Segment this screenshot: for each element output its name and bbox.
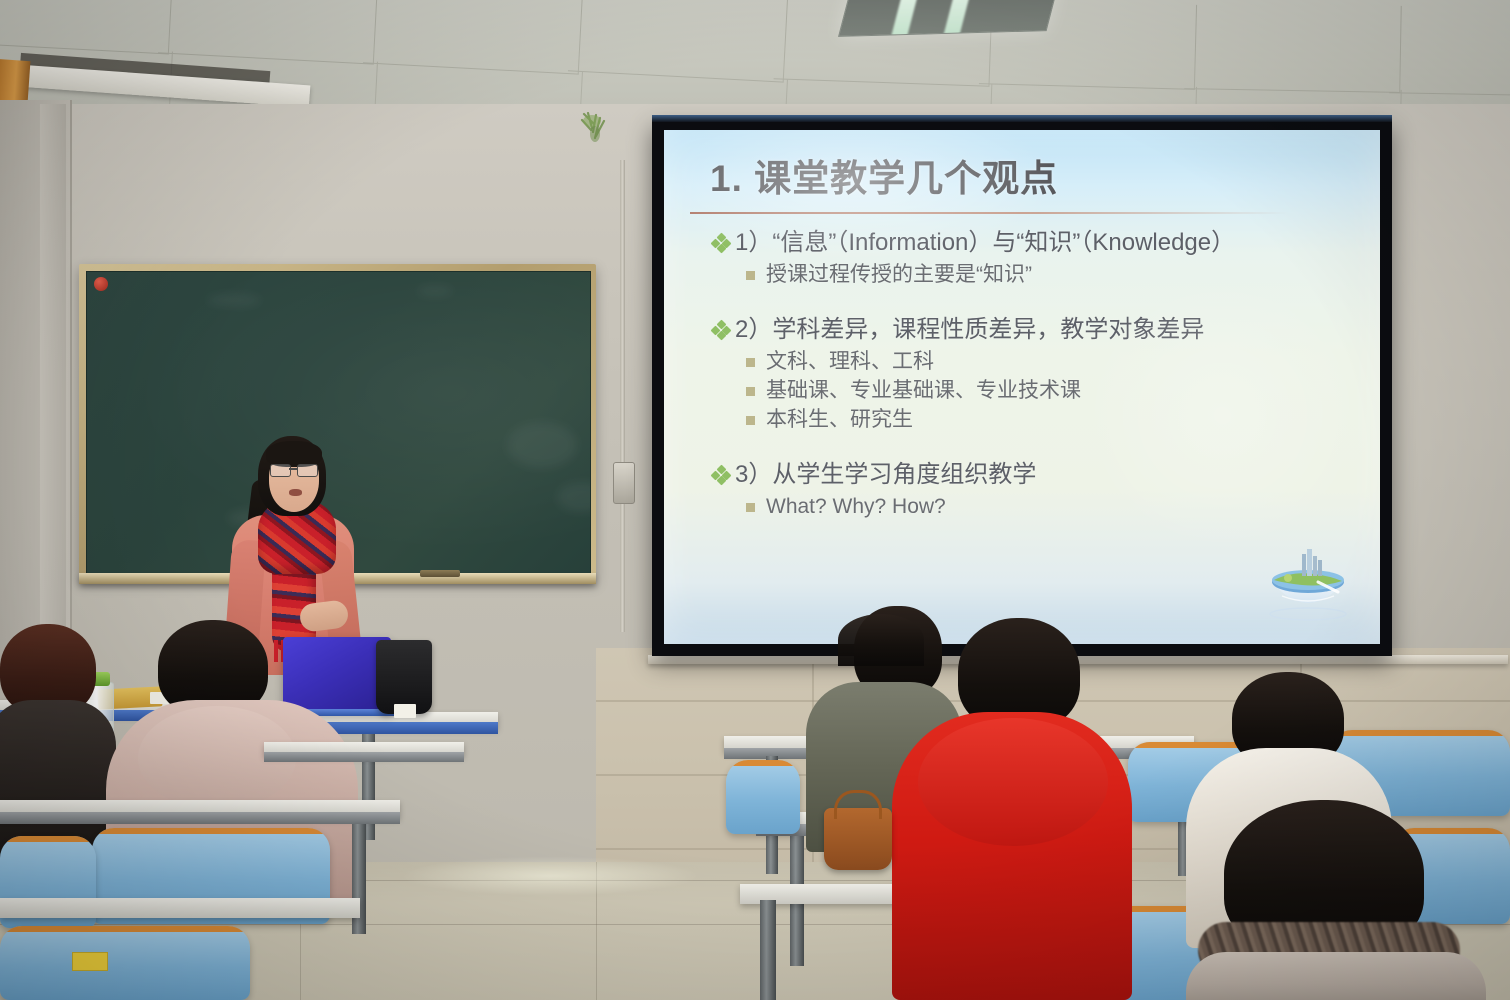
wall-conduit — [620, 160, 625, 632]
slide-subbullet-text: 本科生、研究生 — [766, 406, 913, 434]
slide-subbullet-text: 授课过程传授的主要是“知识” — [766, 261, 1032, 289]
student-hood — [918, 718, 1108, 846]
square-bullet-icon — [746, 271, 755, 280]
slide-subbullet: 文科、理科、工科 — [746, 348, 1362, 376]
slide-subbullet-text: 基础课、专业基础课、专业技术课 — [766, 377, 1081, 405]
slide-bullet-3: 3）从学生学习角度组织教学 — [712, 460, 1362, 491]
square-bullet-icon — [746, 387, 755, 396]
blue-laptop[interactable] — [283, 637, 391, 713]
student-jacket — [1186, 952, 1486, 1000]
presenter-mouth — [289, 489, 302, 496]
chalk-eraser — [420, 570, 460, 577]
plant-decoration-icon — [578, 112, 620, 156]
handbag-strap — [834, 790, 882, 819]
slide-subbullet: 本科生、研究生 — [746, 406, 1362, 434]
student-desk-edge — [0, 812, 400, 824]
slide-subbullet: 基础课、专业基础课、专业技术课 — [746, 377, 1362, 405]
square-bullet-icon — [746, 358, 755, 367]
wall-column — [40, 104, 66, 664]
chair-sticker — [72, 952, 108, 971]
front-row-head — [838, 614, 924, 666]
diamond-bullet-icon — [712, 234, 730, 252]
slide-bullet-text: 1）“信息”（Information）与“知识”（Knowledge） — [735, 228, 1235, 259]
slide-subbullet: What? Why? How? — [746, 493, 1362, 521]
slide-bullet-2: 2）学科差异，课程性质差异，教学对象差异 — [712, 315, 1362, 346]
square-bullet-icon — [746, 503, 755, 512]
slide-bullet-text: 2）学科差异，课程性质差异，教学对象差异 — [735, 315, 1204, 346]
projection-screen: 1. 课堂教学几个观点 1）“信息”（Information）与“知识”（Kno… — [652, 120, 1392, 656]
floor-light-reflection — [400, 856, 700, 896]
slide-title-rule — [690, 212, 1288, 214]
diamond-bullet-icon — [712, 321, 730, 339]
recessed-fluorescent-light-icon — [838, 0, 1059, 37]
student-desk-front — [0, 898, 360, 918]
student-desk-mid-edge — [264, 752, 464, 762]
desk-leg — [760, 900, 776, 1000]
black-handbag[interactable] — [376, 640, 432, 714]
slide-title: 1. 课堂教学几个观点 — [710, 148, 1058, 202]
slide-bullet-text: 3）从学生学习角度组织教学 — [735, 460, 1036, 491]
diamond-bullet-icon — [712, 466, 730, 484]
slide-subbullet: 授课过程传授的主要是“知识” — [746, 261, 1362, 289]
slide-bullet-1: 1）“信息”（Information）与“知识”（Knowledge） — [712, 228, 1362, 259]
square-bullet-icon — [746, 416, 755, 425]
wall-junction-box — [613, 462, 635, 504]
chair[interactable] — [726, 760, 800, 834]
slide-subbullet-text: What? Why? How? — [766, 493, 946, 521]
desk-paper — [394, 704, 416, 718]
glasses-icon — [270, 464, 316, 475]
chalkboard-sticker-icon — [94, 277, 108, 291]
presentation-slide: 1. 课堂教学几个观点 1）“信息”（Information）与“知识”（Kno… — [664, 130, 1380, 644]
classroom-photo: 1. 课堂教学几个观点 1）“信息”（Information）与“知识”（Kno… — [0, 0, 1510, 1000]
globe-bowl-graphic-icon — [1262, 538, 1354, 622]
chair[interactable] — [0, 926, 250, 1000]
slide-subbullet-text: 文科、理科、工科 — [766, 348, 934, 376]
slide-bullet-list: 1）“信息”（Information）与“知识”（Knowledge） 授课过程… — [712, 228, 1362, 522]
